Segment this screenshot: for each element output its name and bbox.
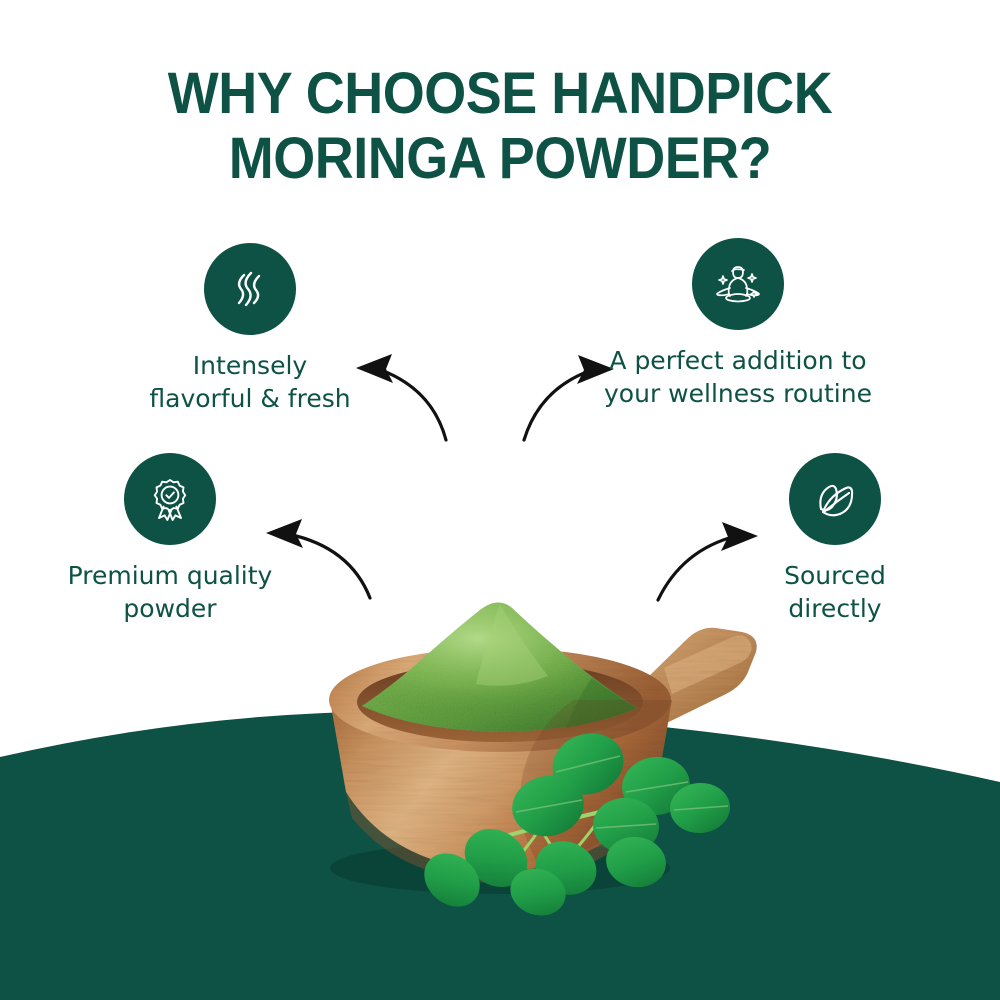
feature-label: A perfect addition to your wellness rout… xyxy=(588,344,888,410)
feature-label: Premium quality powder xyxy=(20,559,320,625)
feature-sourced-directly[interactable]: Sourced directly xyxy=(685,453,985,625)
feature-intensely-flavorful[interactable]: Intensely flavorful & fresh xyxy=(100,243,400,415)
feature-label: Intensely flavorful & fresh xyxy=(100,349,400,415)
infographic-canvas: WHY CHOOSE HANDPICK MORINGA POWDER? xyxy=(0,0,1000,1000)
feature-premium-quality[interactable]: Premium quality powder xyxy=(20,453,320,625)
feature-icon-badge xyxy=(204,243,296,335)
meditating-person-icon xyxy=(711,257,765,311)
feature-icon-badge xyxy=(789,453,881,545)
feature-wellness-routine[interactable]: A perfect addition to your wellness rout… xyxy=(588,238,888,410)
feature-label: Sourced directly xyxy=(685,559,985,625)
page-title: WHY CHOOSE HANDPICK MORINGA POWDER? xyxy=(35,62,965,192)
feature-icon-badge xyxy=(124,453,216,545)
two-leaves-icon xyxy=(810,474,860,524)
feature-icon-badge xyxy=(692,238,784,330)
award-ribbon-check-icon xyxy=(145,474,195,524)
aroma-swirl-icon xyxy=(226,265,274,313)
